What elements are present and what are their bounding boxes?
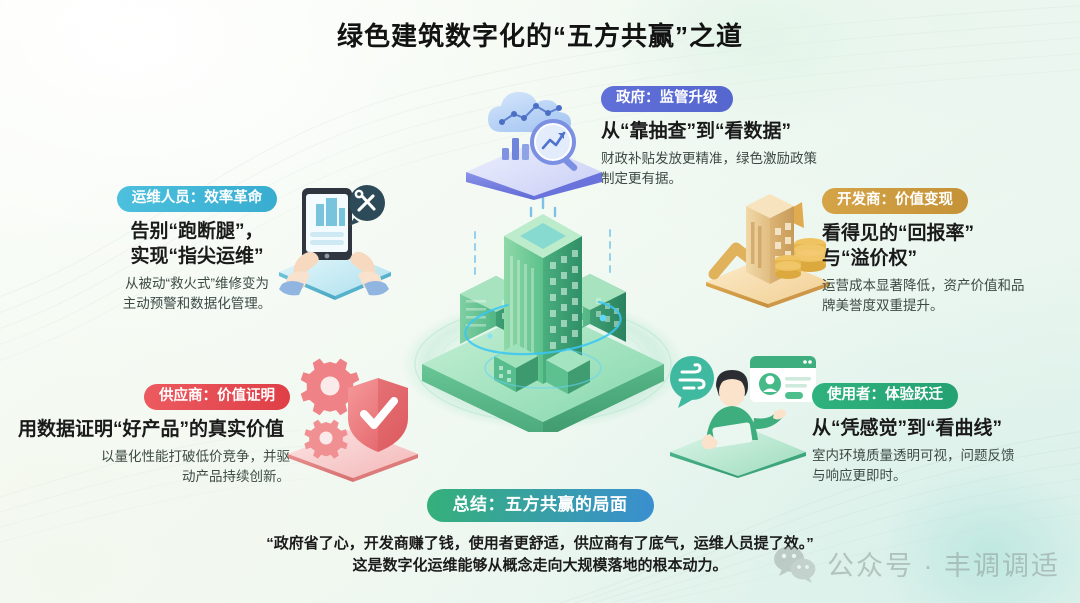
description-line: 运营成本显著降低，资产价值和品 <box>822 276 1074 296</box>
description-line: 主动预警和数据化管理。 <box>72 294 322 314</box>
gears-shield-icon <box>278 352 428 482</box>
description-developer: 运营成本显著降低，资产价值和品 牌美誉度双重提升。 <box>822 276 1074 316</box>
description-line: 从被动“救火式”维修变为 <box>72 274 322 294</box>
description-line: 与响应更即时。 <box>812 466 1074 486</box>
description-supplier: 以量化性能打破低价竞争，并驱 动产品持续创新。 <box>8 447 294 487</box>
badge-government: 政府：监管升级 <box>601 86 733 112</box>
cloud-analytics-icon <box>458 80 610 200</box>
badge-operations: 运维人员：效率革命 <box>117 186 278 212</box>
heading-line: 实现“指尖运维” <box>72 244 322 269</box>
watermark-text: 公众号 · 丰调调适 <box>827 544 1060 583</box>
person-feedback-icon <box>658 346 824 478</box>
heading-line: 看得见的“回报率” <box>822 221 1074 246</box>
description-line: 制定更有据。 <box>601 169 901 189</box>
block-supplier: 供应商：价值证明 用数据证明“好产品”的真实价值 以量化性能打破低价竞争，并驱 … <box>8 384 294 487</box>
description-user: 室内环境质量透明可视，问题反馈 与响应更即时。 <box>812 446 1074 486</box>
heading-government: 从“靠抽查”到“看数据” <box>601 119 901 144</box>
wechat-icon <box>773 545 817 583</box>
description-line: 动产品持续创新。 <box>8 467 290 487</box>
description-government: 财政补贴发放更精准，绿色激励政策 制定更有据。 <box>601 149 901 189</box>
description-operations: 从被动“救火式”维修变为 主动预警和数据化管理。 <box>72 274 322 314</box>
description-line: 室内环境质量透明可视，问题反馈 <box>812 446 1074 466</box>
isometric-smart-city-icon <box>398 196 688 432</box>
watermark: 公众号 · 丰调调适 <box>773 544 1060 583</box>
page-title: 绿色建筑数字化的“五方共赢”之道 <box>0 16 1080 53</box>
heading-developer: 看得见的“回报率” 与“溢价权” <box>822 221 1074 271</box>
badge-supplier: 供应商：价值证明 <box>144 384 290 410</box>
description-line: 牌美誉度双重提升。 <box>822 296 1074 316</box>
badge-user: 使用者：体验跃迁 <box>812 383 958 409</box>
heading-supplier: 用数据证明“好产品”的真实价值 <box>8 417 294 442</box>
block-government: 政府：监管升级 从“靠抽查”到“看数据” 财政补贴发放更精准，绿色激励政策 制定… <box>601 86 901 189</box>
heading-line: 告别“跑断腿”， <box>72 219 322 244</box>
block-user: 使用者：体验跃迁 从“凭感觉”到“看曲线” 室内环境质量透明可视，问题反馈 与响… <box>812 383 1074 486</box>
block-operations: 运维人员：效率革命 告别“跑断腿”， 实现“指尖运维” 从被动“救火式”维修变为… <box>72 186 322 314</box>
heading-operations: 告别“跑断腿”， 实现“指尖运维” <box>72 219 322 269</box>
infographic-canvas: 绿色建筑数字化的“五方共赢”之道 <box>0 0 1080 603</box>
heading-user: 从“凭感觉”到“看曲线” <box>812 416 1074 441</box>
description-line: 以量化性能打破低价竞争，并驱 <box>8 447 290 467</box>
badge-summary: 总结：五方共赢的局面 <box>427 489 654 522</box>
block-developer: 开发商：价值变现 看得见的“回报率” 与“溢价权” 运营成本显著降低，资产价值和… <box>822 188 1074 316</box>
description-line: 财政补贴发放更精准，绿色激励政策 <box>601 149 901 169</box>
building-growth-coins-icon <box>698 186 838 308</box>
heading-line: 与“溢价权” <box>822 246 1074 271</box>
badge-developer: 开发商：价值变现 <box>822 188 968 214</box>
